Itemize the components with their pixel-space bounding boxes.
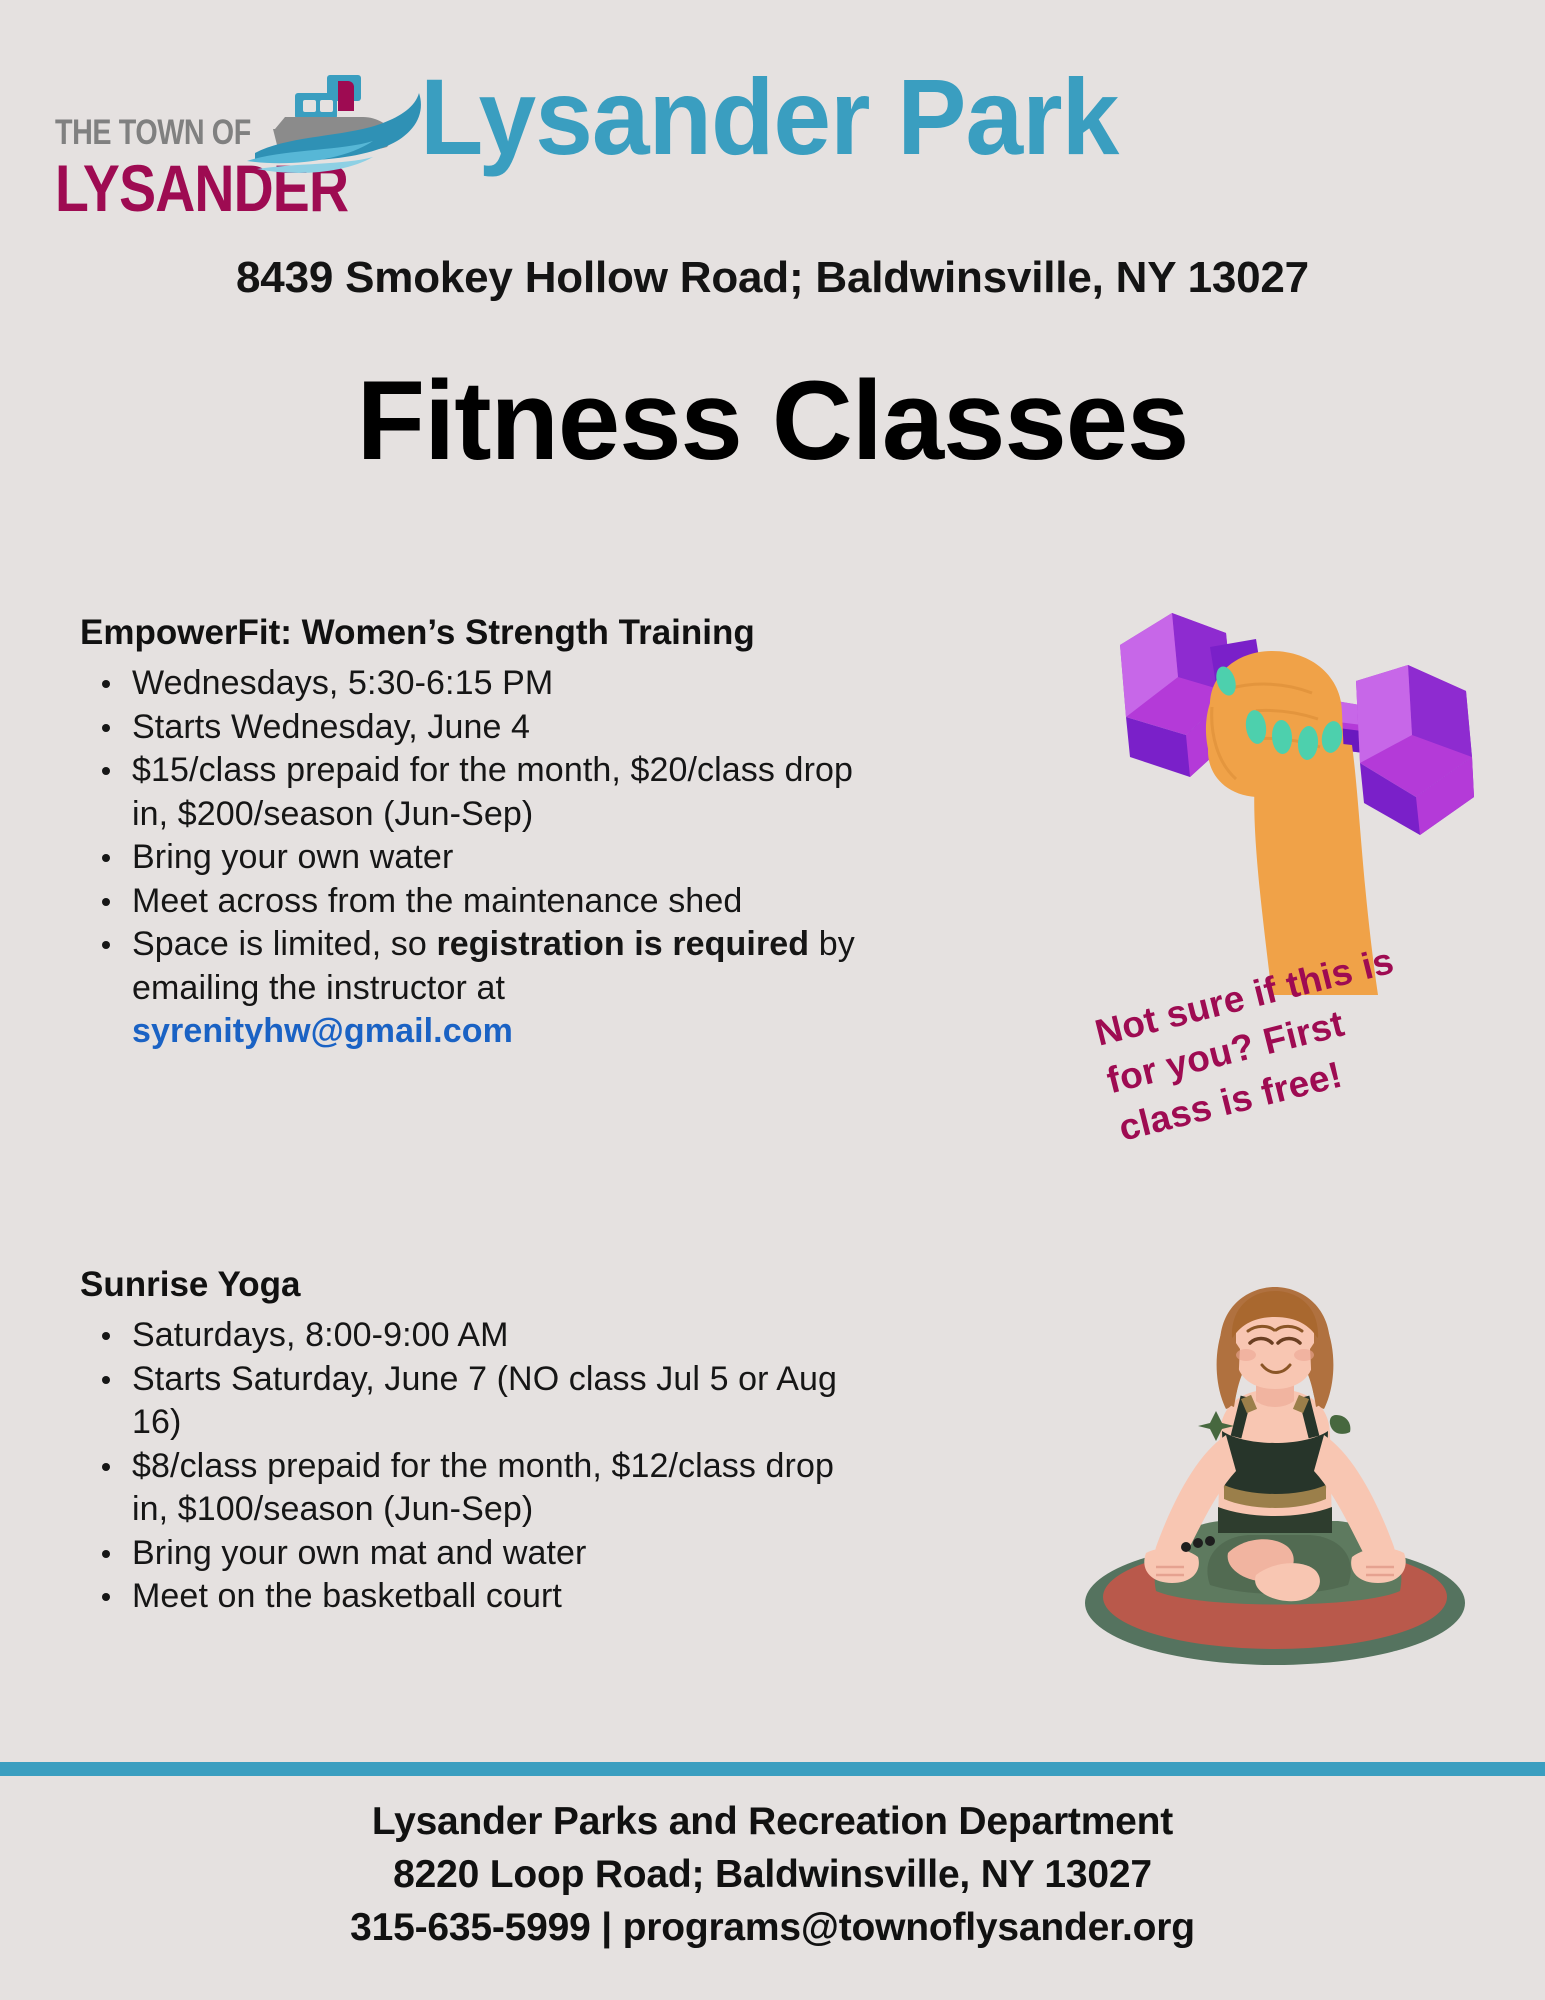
hand-holding-dumbbell-icon (1060, 585, 1510, 995)
instructor-email-link[interactable]: syrenityhw@gmail.com (132, 1012, 513, 1050)
class-section-yoga: Sunrise Yoga Saturdays, 8:00-9:00 AM Sta… (80, 1265, 870, 1619)
park-address: 8439 Smokey Hollow Road; Baldwinsville, … (0, 253, 1545, 303)
bullet-list-yoga: Saturdays, 8:00-9:00 AM Starts Saturday,… (80, 1314, 870, 1619)
page-footer: Lysander Parks and Recreation Department… (0, 1795, 1545, 1954)
footer-department: Lysander Parks and Recreation Department (0, 1795, 1545, 1848)
list-item: Starts Wednesday, June 4 (80, 706, 870, 750)
footer-divider-bar (0, 1762, 1545, 1776)
list-item: Meet on the basketball court (80, 1575, 870, 1619)
footer-address: 8220 Loop Road; Baldwinsville, NY 13027 (0, 1848, 1545, 1901)
section-title-yoga: Sunrise Yoga (80, 1265, 870, 1305)
page-title: Fitness Classes (0, 362, 1545, 480)
logo-top-text: THE TOWN OF (55, 113, 251, 153)
list-item: Bring your own mat and water (80, 1532, 870, 1576)
list-item: Meet across from the maintenance shed (80, 880, 870, 924)
woman-meditating-lotus-icon (1060, 1285, 1490, 1675)
list-item: Bring your own water (80, 836, 870, 880)
class-section-strength: EmpowerFit: Women’s Strength Training We… (80, 613, 870, 1054)
list-item: Starts Saturday, June 7 (NO class Jul 5 … (80, 1358, 870, 1445)
registration-bold-part: registration is required (436, 925, 809, 963)
list-item-registration: Space is limited, so registration is req… (80, 923, 870, 1054)
park-title: Lysander Park (420, 58, 1476, 176)
list-item: Saturdays, 8:00-9:00 AM (80, 1314, 870, 1358)
footer-contact: 315-635-5999 | programs@townoflysander.o… (0, 1901, 1545, 1954)
list-item: Wednesdays, 5:30-6:15 PM (80, 662, 870, 706)
list-item: $8/class prepaid for the month, $12/clas… (80, 1445, 870, 1532)
town-of-lysander-logo: THE TOWN OF LYSANDER (55, 65, 455, 225)
registration-text-part: Space is limited, so (132, 925, 436, 963)
list-item: $15/class prepaid for the month, $20/cla… (80, 749, 870, 836)
flyer-page: THE TOWN OF LYSANDER Lysander Park 8439 … (0, 0, 1545, 2000)
section-title-strength: EmpowerFit: Women’s Strength Training (80, 613, 870, 653)
boat-waves-icon (235, 65, 425, 185)
page-header: THE TOWN OF LYSANDER Lysander Park (0, 30, 1545, 210)
bullet-list-strength: Wednesdays, 5:30-6:15 PM Starts Wednesda… (80, 662, 870, 1054)
